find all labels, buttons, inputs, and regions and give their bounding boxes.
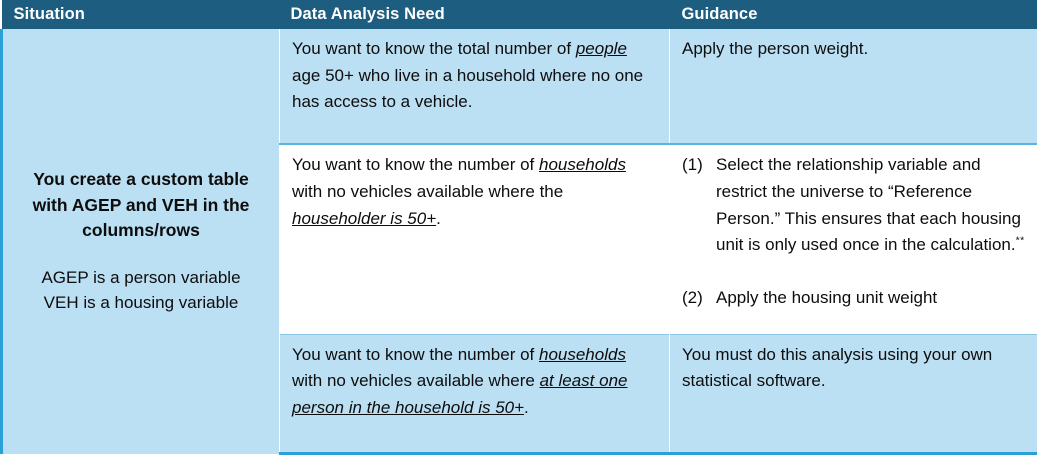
need-text-part2: age 50+ who live in a household where no…: [292, 66, 643, 112]
guidance-text-row1: Apply the person weight.: [682, 39, 868, 58]
situation-note-agep: AGEP is a person variable: [17, 266, 265, 291]
list-item: (2) Apply the housing unit weight: [682, 285, 1025, 312]
need-emphasis-households: households: [539, 155, 626, 174]
need-text-part1: You want to know the total number of: [292, 39, 576, 58]
list-item-marker: (2): [682, 285, 716, 312]
table-header-row: Situation Data Analysis Need Guidance: [2, 0, 1037, 29]
column-header-guidance: Guidance: [670, 0, 1037, 29]
need-text-part2: with no vehicles available where the: [292, 182, 563, 201]
list-item-text: Apply the housing unit weight: [716, 285, 1025, 312]
need-text-part1: You want to know the number of: [292, 155, 539, 174]
guidance-text-row3: You must do this analysis using your own…: [682, 345, 992, 391]
guidance-cell-row3: You must do this analysis using your own…: [670, 334, 1037, 453]
need-cell-row2: You want to know the number of household…: [280, 144, 670, 334]
need-emphasis-households: households: [539, 345, 626, 364]
column-header-situation: Situation: [2, 0, 280, 29]
situation-note-veh: VEH is a housing variable: [17, 291, 265, 316]
list-item-text: Select the relationship variable and res…: [716, 152, 1025, 259]
list-item: (1) Select the relationship variable and…: [682, 152, 1025, 259]
situation-cell: You create a custom table with AGEP and …: [2, 29, 280, 454]
need-text-part3: .: [524, 398, 529, 417]
guidance-cell-row2: (1) Select the relationship variable and…: [670, 144, 1037, 334]
situation-spacer: [17, 244, 265, 266]
need-cell-row1: You want to know the total number of peo…: [280, 29, 670, 144]
need-cell-row3: You want to know the number of household…: [280, 334, 670, 453]
need-text-part3: .: [436, 209, 441, 228]
guidance-cell-row1: Apply the person weight.: [670, 29, 1037, 144]
guidance-table: Situation Data Analysis Need Guidance Yo…: [0, 0, 1037, 455]
footnote-marker: **: [1016, 235, 1025, 247]
need-text-part1: You want to know the number of: [292, 345, 539, 364]
list-item-body: Select the relationship variable and res…: [716, 155, 1021, 254]
guidance-numbered-list: (1) Select the relationship variable and…: [682, 152, 1025, 311]
column-header-data-analysis-need: Data Analysis Need: [280, 0, 670, 29]
list-spacer: [682, 259, 1025, 285]
situation-title: You create a custom table with AGEP and …: [17, 167, 265, 244]
list-item-marker: (1): [682, 152, 716, 179]
need-emphasis-people: people: [576, 39, 627, 58]
need-text-part2: with no vehicles available where: [292, 371, 540, 390]
need-emphasis-householder-50: householder is 50+: [292, 209, 436, 228]
table-row: You create a custom table with AGEP and …: [2, 29, 1037, 144]
